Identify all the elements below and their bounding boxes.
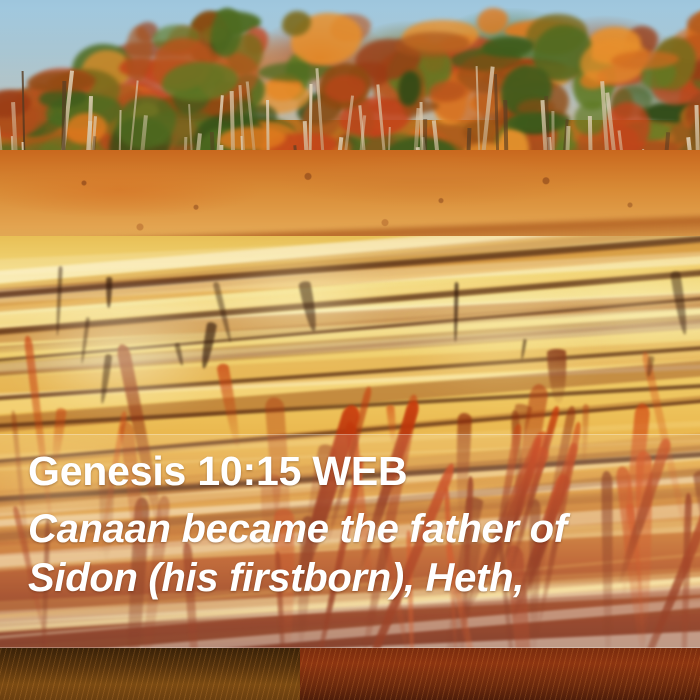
verse-reference: Genesis 10:15 WEB xyxy=(28,448,678,494)
verse-text-layer: Genesis 10:15 WEB Canaan became the fath… xyxy=(0,434,700,648)
water-region xyxy=(0,648,700,700)
verse-image-card: Genesis 10:15 WEB Canaan became the fath… xyxy=(0,0,700,700)
verse-text: Canaan became the father of Sidon (his f… xyxy=(28,505,678,603)
foliage-blob xyxy=(482,37,534,58)
verse-line-1: Canaan became the father of xyxy=(28,505,678,554)
water-ripples xyxy=(0,648,700,700)
foliage-blob xyxy=(477,8,508,34)
verse-line-2: Sidon (his firstborn), Heth, xyxy=(28,554,678,603)
